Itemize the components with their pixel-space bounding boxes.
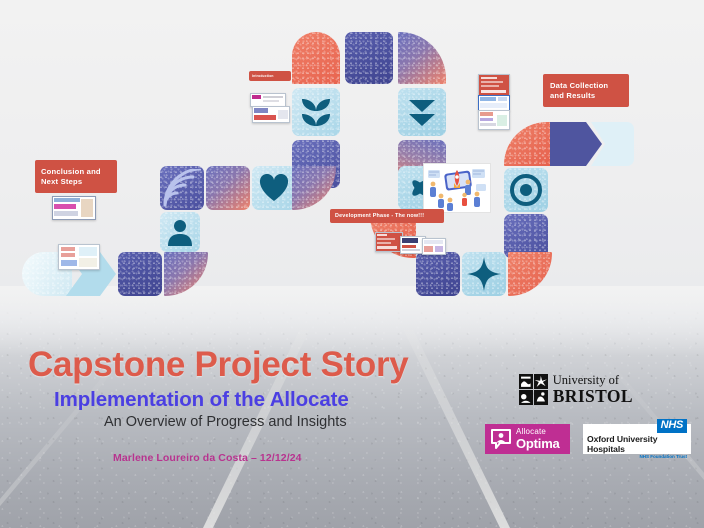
- tile-coral-quarter-top-left: [504, 122, 552, 166]
- section-label-data-collection[interactable]: Data Collection and Results: [543, 74, 629, 107]
- section-label-conclusion[interactable]: Conclusion and Next Steps: [35, 160, 117, 193]
- tile-coral-half-circle-top: [292, 32, 340, 84]
- nhs-mark: NHS: [657, 419, 687, 432]
- slide-thumbnail-data-b: [478, 95, 510, 111]
- slide-title: Capstone Project Story: [28, 345, 408, 385]
- slide-thumbnail-conclusion-a: [52, 196, 96, 220]
- tile-target: [504, 168, 548, 212]
- nhs-trust-subtitle: NHS Foundation Trust: [640, 454, 688, 459]
- section-label-introduction[interactable]: Introduction: [249, 71, 291, 81]
- slide-thumbnail-dev-c: [422, 238, 446, 255]
- heart-icon: [252, 166, 296, 210]
- slide-thumbnail-intro-a: [250, 93, 286, 107]
- tile-person: [160, 212, 200, 252]
- tile-chevron-white: [591, 122, 643, 166]
- tile-gradient-square-2: [206, 166, 250, 210]
- slide-thumbnail-data-a: [478, 74, 510, 96]
- tile-gradient-quarter: [292, 166, 336, 210]
- optima-wordmark: Allocate Optima: [516, 428, 560, 450]
- tile-gradient-quarter-top-right: [398, 32, 446, 84]
- slide-thumbnail-intro-b: [252, 106, 290, 123]
- section-label-development-phase[interactable]: Development Phase - The now!!!: [330, 209, 444, 223]
- optima-speech-bubble-person-icon: [490, 428, 512, 450]
- slide-thumbnail-data-c: [478, 110, 510, 130]
- tile-coral-quarter-bottom-right: [508, 252, 552, 296]
- tile-gradient-quarter-2: [164, 252, 208, 296]
- slide-subtitle: Implementation of the Allocate: [54, 388, 349, 412]
- bristol-wordmark: University of BRISTOL: [553, 374, 633, 405]
- double-chevron-down-icon: [398, 88, 446, 136]
- tile-leaf: [292, 88, 340, 136]
- presentation-slide: Conclusion and Next Steps Introduction D…: [0, 0, 704, 528]
- tile-indigo-square-3: [118, 252, 162, 296]
- logo-oxford-university-hospitals-nhs: NHS Oxford University Hospitals NHS Foun…: [583, 424, 691, 454]
- tile-star: [462, 252, 506, 296]
- tile-indigo-square: [345, 32, 393, 84]
- bristol-crest-icon: [519, 374, 548, 405]
- nhs-trust-name: Oxford University Hospitals: [587, 434, 687, 454]
- target-icon: [504, 168, 548, 212]
- slide-tagline: An Overview of Progress and Insights: [104, 414, 347, 430]
- person-icon: [160, 212, 200, 252]
- decorative-tile-mosaic: Conclusion and Next Steps Introduction D…: [0, 0, 704, 322]
- logo-university-of-bristol: University of BRISTOL: [519, 373, 633, 406]
- wifi-arc-icon: [160, 166, 204, 210]
- logo-allocate-optima: Allocate Optima: [485, 424, 570, 454]
- leaf-icon: [292, 88, 340, 136]
- tile-heart: [252, 166, 296, 210]
- slide-thumbnail-conclusion-b: [58, 244, 100, 270]
- tile-indigo-square-5: [416, 252, 460, 296]
- illustration-rocket-launch-from-phone: [423, 163, 491, 213]
- slide-author-and-date: Marlene Loureiro da Costa – 12/12/24: [113, 452, 302, 464]
- four-point-star-icon: [462, 252, 506, 296]
- slide-thumbnail-dev-a: [375, 232, 403, 252]
- tile-double-chevron: [398, 88, 446, 136]
- tile-wifi: [160, 166, 204, 210]
